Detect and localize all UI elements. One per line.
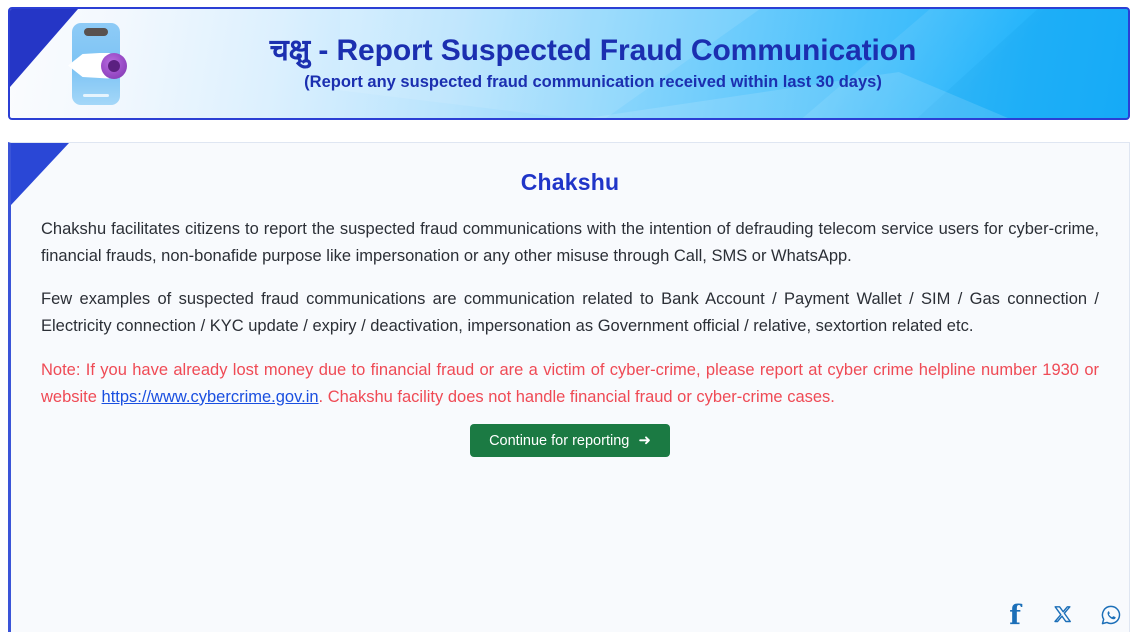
header-logo [10,7,128,120]
phone-eye-icon [72,23,120,105]
social-share-bar: f [1002,602,1124,628]
continue-for-reporting-label: Continue for reporting [489,434,629,449]
cta-row: Continue for reporting ➜ [41,424,1099,457]
description-paragraph-1: Chakshu facilitates citizens to report t… [41,216,1099,269]
note-paragraph: Note: If you have already lost money due… [41,357,1099,410]
whatsapp-icon[interactable] [1098,602,1124,628]
header-title: चक्षु - Report Suspected Fraud Communica… [128,34,1058,68]
main-content-card: Chakshu Chakshu facilitates citizens to … [8,142,1130,632]
x-twitter-icon[interactable] [1050,602,1076,628]
phone-notch-shape [84,28,108,36]
cybercrime-portal-link[interactable]: https://www.cybercrime.gov.in [102,388,319,406]
description-paragraph-2: Few examples of suspected fraud communic… [41,286,1099,339]
header-banner: चक्षु - Report Suspected Fraud Communica… [8,7,1130,120]
facebook-icon[interactable]: f [1002,602,1028,628]
header-subtitle: (Report any suspected fraud communicatio… [128,73,1058,93]
facebook-glyph: f [1009,602,1021,629]
arrow-right-icon: ➜ [638,433,651,448]
continue-for-reporting-button[interactable]: Continue for reporting ➜ [470,424,670,457]
note-text-after-link: . Chakshu facility does not handle finan… [319,388,835,406]
eye-pupil-shape [108,60,120,72]
card-inner: Chakshu Chakshu facilitates citizens to … [11,143,1129,457]
phone-home-bar-shape [83,94,109,97]
page-title: Chakshu [41,169,1099,196]
header-text-block: चक्षु - Report Suspected Fraud Communica… [128,34,1128,92]
